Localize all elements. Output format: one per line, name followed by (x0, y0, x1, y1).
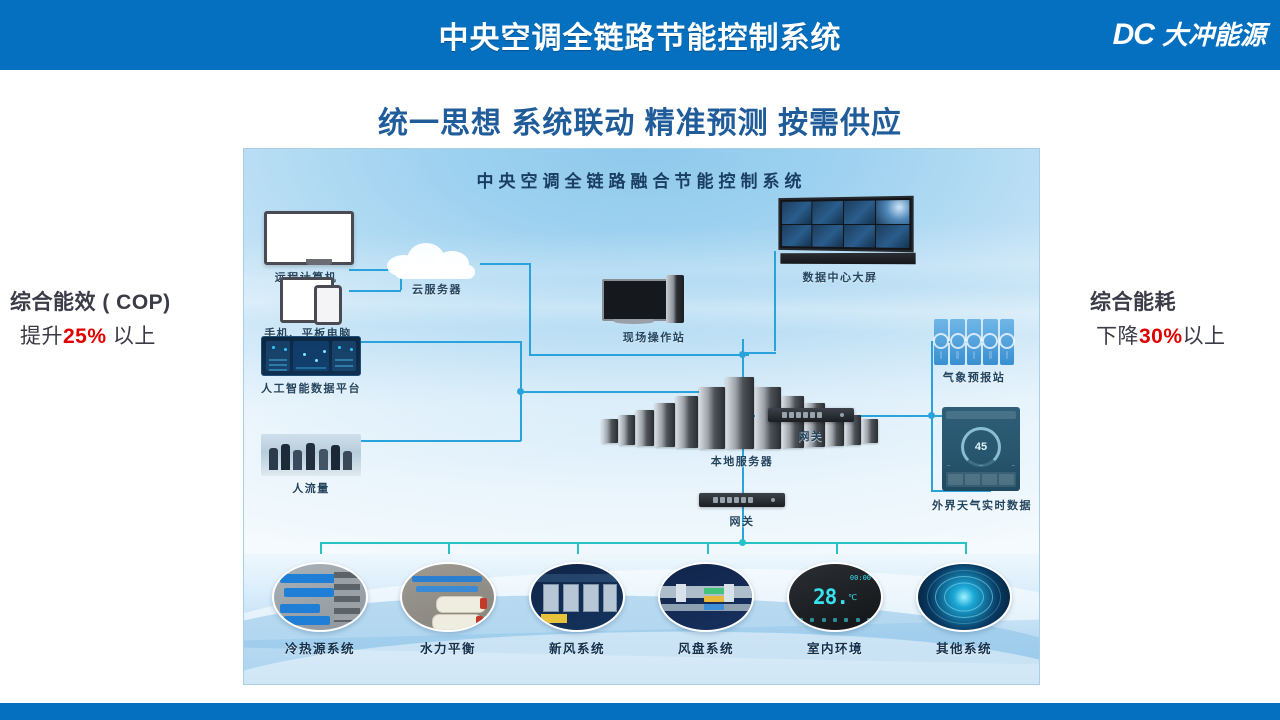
node-gateway-bottom[interactable]: 网关 (699, 493, 819, 507)
node-video-wall[interactable]: 数据中心大屏 (774, 197, 934, 251)
callout-energy-title: 综合能耗 (1090, 286, 1226, 316)
callout-cop: 综合能效 ( COP) 提升25% 以上 (10, 286, 171, 350)
workstation-base-icon (614, 319, 654, 324)
subsystem-chiller-label: 冷热源系统 (268, 638, 372, 657)
node-phone-tablet[interactable]: 手机、平板电脑 (280, 277, 400, 323)
subsystem-indoor[interactable]: 00:00 28.℃ 室内环境 (783, 562, 887, 657)
callout-cop-prefix: 提升 (20, 325, 63, 348)
callout-energy-value: 30% (1139, 325, 1183, 348)
subtitle-slogan: 统一思想 系统联动 精准预测 按需供应 (0, 98, 1280, 142)
callout-cop-value: 25% (63, 325, 107, 348)
node-gateway-right[interactable]: 网关 (768, 408, 888, 422)
thermostat-clock: 00:00 (850, 574, 871, 582)
line-weather-bus-vert (931, 341, 933, 491)
subsystem-other[interactable]: 其他系统 (912, 562, 1016, 657)
system-architecture-diagram: 中央空调全链路融合节能控制系统 远程计算机 (243, 148, 1040, 685)
diagram-title: 中央空调全链路融合节能控制系统 (244, 167, 1039, 192)
gateway-ports-icon-bottom (713, 497, 753, 503)
monitor-icon (264, 211, 354, 265)
node-weather-realtime[interactable]: 45 ------ 外界天气实时数据 (934, 407, 1040, 491)
brand-logo: DC 大冲能源 (1113, 14, 1266, 56)
callout-cop-suffix: 以上 (107, 325, 156, 348)
subsystem-fresh-air-label: 新风系统 (525, 638, 629, 657)
node-remote-computer[interactable]: 远程计算机 (264, 211, 374, 265)
node-people-flow-label: 人流量 (292, 480, 330, 496)
subsystem-indoor-label: 室内环境 (783, 638, 887, 657)
node-weather-realtime-label: 外界天气实时数据 (932, 497, 1032, 513)
page-header: 中央空调全链路节能控制系统 DC 大冲能源 (0, 0, 1280, 70)
thermostat-temperature: 28. (813, 585, 848, 609)
phone-icon (314, 285, 342, 325)
node-gateway-bottom-label: 网关 (730, 513, 755, 529)
node-ai-data-platform-label: 人工智能数据平台 (261, 380, 361, 396)
indoor-thermostat-photo: 00:00 28.℃ (787, 562, 883, 632)
fan-coil-system-photo (658, 562, 754, 632)
subsystem-other-label: 其他系统 (912, 638, 1016, 657)
video-wall-base-icon (780, 253, 915, 265)
weather-forecast-row (946, 472, 1016, 487)
gateway-device-icon (768, 408, 854, 422)
weather-metrics-row: ------ (947, 463, 1015, 469)
subsystem-row: 冷热源系统 水力平衡 新风系统 (244, 562, 1039, 680)
ai-panel-map (293, 341, 329, 371)
node-cloud-server-label: 云服务器 (412, 281, 462, 297)
gateway-device-icon-bottom (699, 493, 785, 507)
distribution-bus (320, 542, 966, 544)
subsystem-fcu-label: 风盘系统 (654, 638, 758, 657)
node-weather-station-label: 气象预报站 (943, 369, 1006, 385)
hydraulic-balance-photo (400, 562, 496, 632)
node-video-wall-label: 数据中心大屏 (803, 269, 878, 285)
weather-gauge: 45 (961, 427, 1001, 467)
node-local-server-label: 本地服务器 (711, 453, 774, 469)
people-flow-photo (261, 434, 361, 476)
line-videowall-to-trunk (742, 352, 776, 354)
callout-energy-suffix: 以上 (1183, 325, 1226, 348)
gateway-ports-icon (782, 412, 822, 418)
thermostat-buttons (799, 618, 871, 622)
page-title: 中央空调全链路节能控制系统 (0, 0, 1280, 70)
brand-mark-text: DC (1113, 20, 1154, 50)
gateway-led-icon-bottom (771, 498, 775, 502)
node-workstation-label: 现场操作站 (623, 329, 686, 345)
page-footer-bar (0, 703, 1280, 720)
line-videowall-down (774, 251, 776, 351)
subsystem-hydraulic-label: 水力平衡 (396, 638, 500, 657)
workstation-tower-icon (666, 275, 684, 323)
ai-panel-left (266, 341, 290, 371)
junction-dot-left-bus (517, 388, 524, 395)
node-cloud-server[interactable]: 云服务器 (387, 239, 497, 279)
junction-dot-distribution (739, 539, 746, 546)
subsystem-fresh-air[interactable]: 新风系统 (525, 562, 629, 657)
callout-cop-title: 综合能效 ( COP) (10, 286, 171, 316)
callout-cop-value-line: 提升25% 以上 (10, 320, 171, 350)
monitor-stand-icon (306, 259, 332, 265)
ai-dashboard-icon (261, 336, 361, 376)
node-gateway-right-label: 网关 (799, 428, 824, 444)
brand-name-text: 大冲能源 (1162, 22, 1266, 48)
callout-energy-prefix: 下降 (1096, 325, 1139, 348)
line-people-to-bus (361, 440, 521, 442)
other-systems-photo (916, 562, 1012, 632)
subsystem-hydraulic[interactable]: 水力平衡 (396, 562, 500, 657)
ai-panel-right (332, 341, 356, 371)
chiller-plant-photo (272, 562, 368, 632)
gateway-led-icon (840, 413, 844, 417)
thermostat-unit: ℃ (848, 593, 857, 602)
workstation-monitor-icon (602, 279, 668, 321)
cloud-icon (387, 239, 483, 279)
callout-energy-value-line: 下降30%以上 (1090, 320, 1226, 350)
weather-panel-header (946, 411, 1016, 419)
subsystem-fcu[interactable]: 风盘系统 (654, 562, 758, 657)
callout-energy: 综合能耗 下降30%以上 (1090, 286, 1226, 350)
line-cloud-down (529, 263, 531, 355)
weather-realtime-panel-icon: 45 ------ (942, 407, 1020, 491)
node-people-flow[interactable]: 人流量 (261, 434, 381, 476)
line-cloud-to-center-bus (529, 354, 749, 356)
subsystem-chiller[interactable]: 冷热源系统 (268, 562, 372, 657)
node-weather-station[interactable]: 气象预报站 (934, 319, 1034, 365)
node-ai-data-platform[interactable]: 人工智能数据平台 (261, 336, 381, 376)
fresh-air-system-photo (529, 562, 625, 632)
weather-forecast-strip-icon (934, 319, 1014, 365)
line-ai-to-bus (361, 341, 521, 343)
video-wall-icon (778, 196, 913, 253)
node-workstation[interactable]: 现场操作站 (602, 279, 722, 339)
